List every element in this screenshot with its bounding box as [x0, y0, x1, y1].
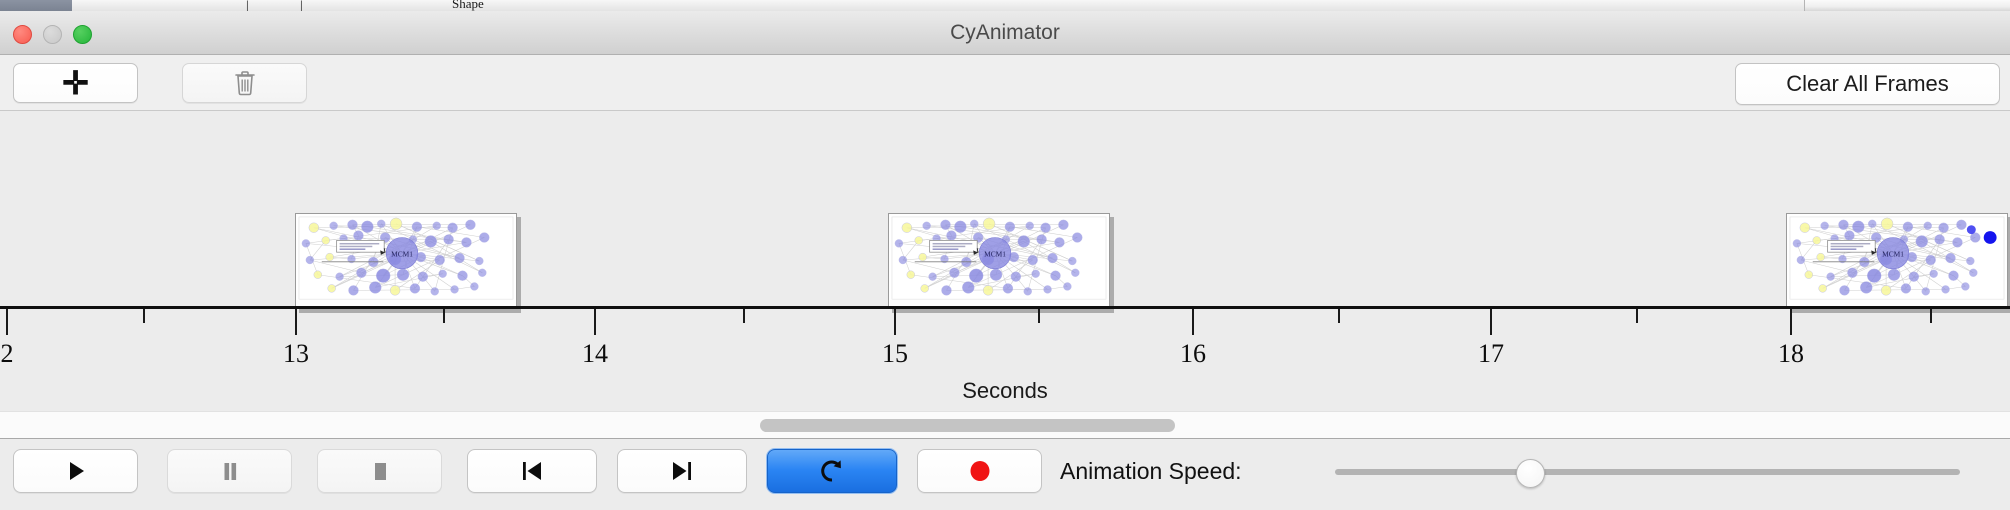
ruler-tick-label: 13 — [283, 339, 309, 369]
svg-text:MCM1: MCM1 — [391, 249, 413, 258]
ruler-tick-label: 2 — [1, 339, 14, 369]
bg-tab — [902, 0, 995, 11]
axis-title: Seconds — [0, 378, 2010, 404]
ruler-tick — [6, 309, 8, 335]
slider-thumb[interactable] — [1516, 459, 1545, 488]
loop-button[interactable] — [767, 449, 897, 493]
ruler-tick — [743, 309, 745, 323]
horizontal-scrollbar[interactable] — [0, 411, 2010, 439]
timeline-panel[interactable]: MCM1MCM1MCM1 2131415161718 Seconds — [0, 111, 2010, 411]
scrollbar-thumb[interactable] — [760, 419, 1175, 432]
ruler-tick — [1038, 309, 1040, 323]
ruler-tick — [1490, 309, 1492, 335]
ruler-tick — [894, 309, 896, 335]
stop-button[interactable] — [317, 449, 442, 493]
pause-icon — [217, 458, 243, 484]
frame-thumbnail-2[interactable]: MCM1 — [888, 213, 1110, 309]
ruler-tick-label: 17 — [1478, 339, 1504, 369]
play-button[interactable] — [13, 449, 138, 493]
bg-tab — [294, 0, 383, 11]
close-button[interactable] — [13, 25, 32, 44]
traffic-lights — [13, 25, 92, 44]
playback-control-bar: Animation Speed: — [0, 440, 2010, 510]
svg-text:MCM1: MCM1 — [984, 249, 1006, 258]
ruler-baseline — [0, 306, 2010, 309]
ruler-tick-label: 14 — [582, 339, 608, 369]
ruler-tick — [1790, 309, 1792, 335]
window-title: CyAnimator — [0, 11, 2010, 55]
bg-tab-selected — [0, 0, 73, 11]
frames-track[interactable]: MCM1MCM1MCM1 — [0, 111, 2010, 306]
minimize-button[interactable] — [43, 25, 62, 44]
add-frame-button[interactable]: ✛ — [13, 63, 138, 103]
title-bar: CyAnimator — [0, 11, 2010, 55]
skip-forward-icon — [668, 458, 696, 484]
ruler-tick-label: 16 — [1180, 339, 1206, 369]
ruler-tick — [1338, 309, 1340, 323]
plus-icon: ✛ — [62, 67, 89, 99]
bg-tab — [994, 0, 1805, 11]
ruler-tick — [594, 309, 596, 335]
ruler-tick — [295, 309, 297, 335]
ruler-tick-label: 18 — [1778, 339, 1804, 369]
delete-frame-button[interactable] — [182, 63, 307, 103]
bg-tab — [72, 0, 183, 11]
loop-icon — [818, 457, 846, 485]
animation-speed-slider[interactable] — [1335, 449, 1960, 493]
clear-all-frames-label: Clear All Frames — [1786, 71, 1949, 97]
frame-thumbnail-3[interactable]: MCM1 — [1786, 213, 2008, 309]
skip-back-icon — [518, 458, 546, 484]
ruler-tick — [143, 309, 145, 323]
maximize-button[interactable] — [73, 25, 92, 44]
slider-track[interactable] — [1335, 469, 1960, 475]
clear-all-frames-button[interactable]: Clear All Frames — [1735, 63, 2000, 105]
ruler-tick-label: 15 — [882, 339, 908, 369]
bg-tab — [182, 0, 239, 11]
ruler-tick — [1636, 309, 1638, 323]
pause-button[interactable] — [167, 449, 292, 493]
frame-thumbnail-1[interactable]: MCM1 — [295, 213, 517, 309]
svg-text:MCM1: MCM1 — [1882, 249, 1904, 258]
cyanimator-window: | | Shape CyAnimator ✛ Clear All Frames — [0, 0, 2010, 510]
skip-to-end-button[interactable] — [617, 449, 747, 493]
trash-icon — [234, 70, 256, 96]
record-button[interactable] — [917, 449, 1042, 493]
record-icon — [967, 458, 993, 484]
ruler-tick — [1930, 309, 1932, 323]
play-icon — [63, 458, 89, 484]
ruler-tick — [443, 309, 445, 323]
toolbar: ✛ Clear All Frames — [0, 55, 2010, 111]
ruler-tick — [1192, 309, 1194, 335]
timeline-ruler[interactable]: 2131415161718 Seconds — [0, 306, 2010, 411]
stop-icon — [367, 458, 393, 484]
animation-speed-label: Animation Speed: — [1060, 449, 1242, 493]
skip-to-start-button[interactable] — [467, 449, 597, 493]
